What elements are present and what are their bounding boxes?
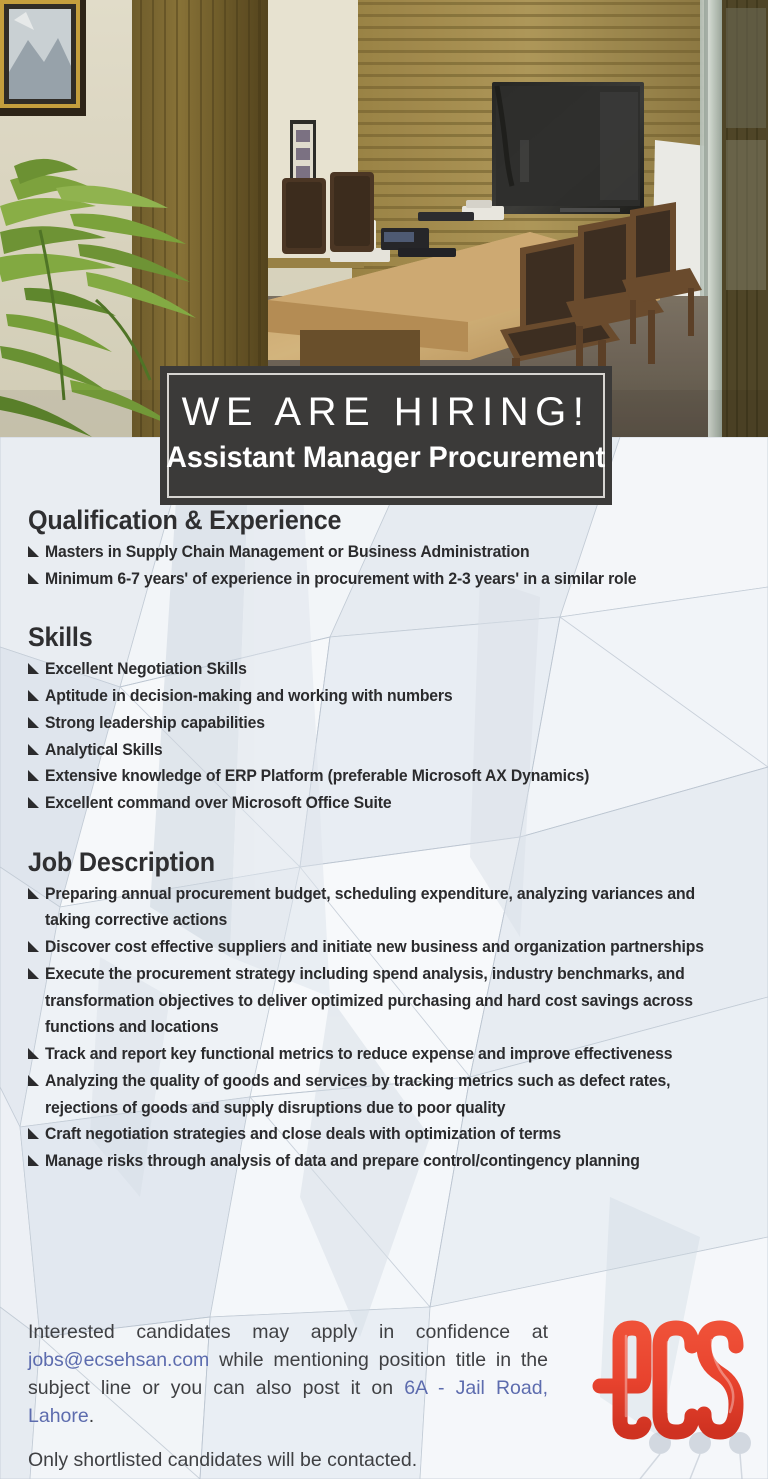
arrow-bullet-icon [28, 888, 39, 899]
list-item-text: Track and report key functional metrics … [45, 1041, 714, 1068]
list-item-text: Analytical Skills [45, 737, 714, 764]
section-heading-qualification: Qualification & Experience [28, 505, 696, 536]
arrow-bullet-icon [28, 770, 39, 781]
list-item: Discover cost effective suppliers and in… [28, 934, 746, 961]
arrow-bullet-icon [28, 941, 39, 952]
hiring-headline: WE ARE HIRING! [182, 391, 591, 433]
list-item: Extensive knowledge of ERP Platform (pre… [28, 763, 746, 790]
job-description-list: Preparing annual procurement budget, sch… [28, 881, 746, 1175]
list-item-text: Craft negotiation strategies and close d… [45, 1121, 714, 1148]
arrow-bullet-icon [28, 744, 39, 755]
skills-list: Excellent Negotiation Skills Aptitude in… [28, 656, 746, 816]
hiring-banner: WE ARE HIRING! Assistant Manager Procure… [160, 366, 612, 505]
arrow-bullet-icon [28, 797, 39, 808]
qualification-list: Masters in Supply Chain Management or Bu… [28, 539, 746, 592]
section-skills: Skills Excellent Negotiation Skills Apti… [28, 622, 746, 816]
list-item: Analyzing the quality of goods and servi… [28, 1068, 746, 1121]
list-item-text: Excellent command over Microsoft Office … [45, 790, 714, 817]
arrow-bullet-icon [28, 663, 39, 674]
list-item-text: Aptitude in decision-making and working … [45, 683, 714, 710]
job-posting-poster: WE ARE HIRING! Assistant Manager Procure… [0, 0, 768, 1479]
list-item-text: Strong leadership capabilities [45, 710, 714, 737]
list-item-text: Discover cost effective suppliers and in… [45, 934, 714, 961]
list-item-text: Masters in Supply Chain Management or Bu… [45, 539, 714, 566]
position-title: Assistant Manager Procurement [167, 439, 606, 477]
list-item: Track and report key functional metrics … [28, 1041, 746, 1068]
list-item: Masters in Supply Chain Management or Bu… [28, 539, 746, 566]
list-item-text: Extensive knowledge of ERP Platform (pre… [45, 763, 714, 790]
list-item: Craft negotiation strategies and close d… [28, 1121, 746, 1148]
footer-contact: Interested candidates may apply in confi… [28, 1318, 548, 1475]
list-item: Minimum 6-7 years' of experience in proc… [28, 566, 746, 593]
arrow-bullet-icon [28, 573, 39, 584]
arrow-bullet-icon [28, 1128, 39, 1139]
arrow-bullet-icon [28, 546, 39, 557]
arrow-bullet-icon [28, 968, 39, 979]
apply-instructions: Interested candidates may apply in confi… [28, 1318, 548, 1430]
arrow-bullet-icon [28, 1155, 39, 1166]
spacer [28, 821, 746, 847]
hiring-banner-inner: WE ARE HIRING! Assistant Manager Procure… [167, 373, 605, 498]
list-item: Preparing annual procurement budget, sch… [28, 881, 746, 934]
section-job-description: Job Description Preparing annual procure… [28, 847, 746, 1175]
arrow-bullet-icon [28, 1075, 39, 1086]
shortlist-note: Only shortlisted candidates will be cont… [28, 1447, 548, 1474]
list-item-text: Preparing annual procurement budget, sch… [45, 881, 714, 934]
list-item: Excellent Negotiation Skills [28, 656, 746, 683]
list-item-text: Manage risks through analysis of data an… [45, 1148, 714, 1175]
ecs-logo-mark [592, 1312, 744, 1444]
email-link[interactable]: jobs@ecsehsan.com [28, 1349, 209, 1371]
poster-content: Qualification & Experience Masters in Su… [0, 505, 768, 1179]
arrow-bullet-icon [28, 690, 39, 701]
list-item-text: Analyzing the quality of goods and servi… [45, 1068, 714, 1121]
list-item-text: Minimum 6-7 years' of experience in proc… [45, 566, 714, 593]
apply-text-1: Interested candidates may apply in confi… [28, 1321, 548, 1343]
spacer [28, 596, 746, 622]
arrow-bullet-icon [28, 717, 39, 728]
section-heading-job-description: Job Description [28, 847, 696, 878]
list-item: Strong leadership capabilities [28, 710, 746, 737]
list-item-text: Execute the procurement strategy includi… [45, 961, 714, 1041]
apply-text-3: . [89, 1405, 94, 1427]
ecs-logo [592, 1312, 744, 1444]
list-item: Aptitude in decision-making and working … [28, 683, 746, 710]
section-qualification: Qualification & Experience Masters in Su… [28, 505, 746, 592]
list-item: Execute the procurement strategy includi… [28, 961, 746, 1041]
list-item: Manage risks through analysis of data an… [28, 1148, 746, 1175]
list-item-text: Excellent Negotiation Skills [45, 656, 714, 683]
list-item: Analytical Skills [28, 737, 746, 764]
arrow-bullet-icon [28, 1048, 39, 1059]
list-item: Excellent command over Microsoft Office … [28, 790, 746, 817]
section-heading-skills: Skills [28, 622, 696, 653]
